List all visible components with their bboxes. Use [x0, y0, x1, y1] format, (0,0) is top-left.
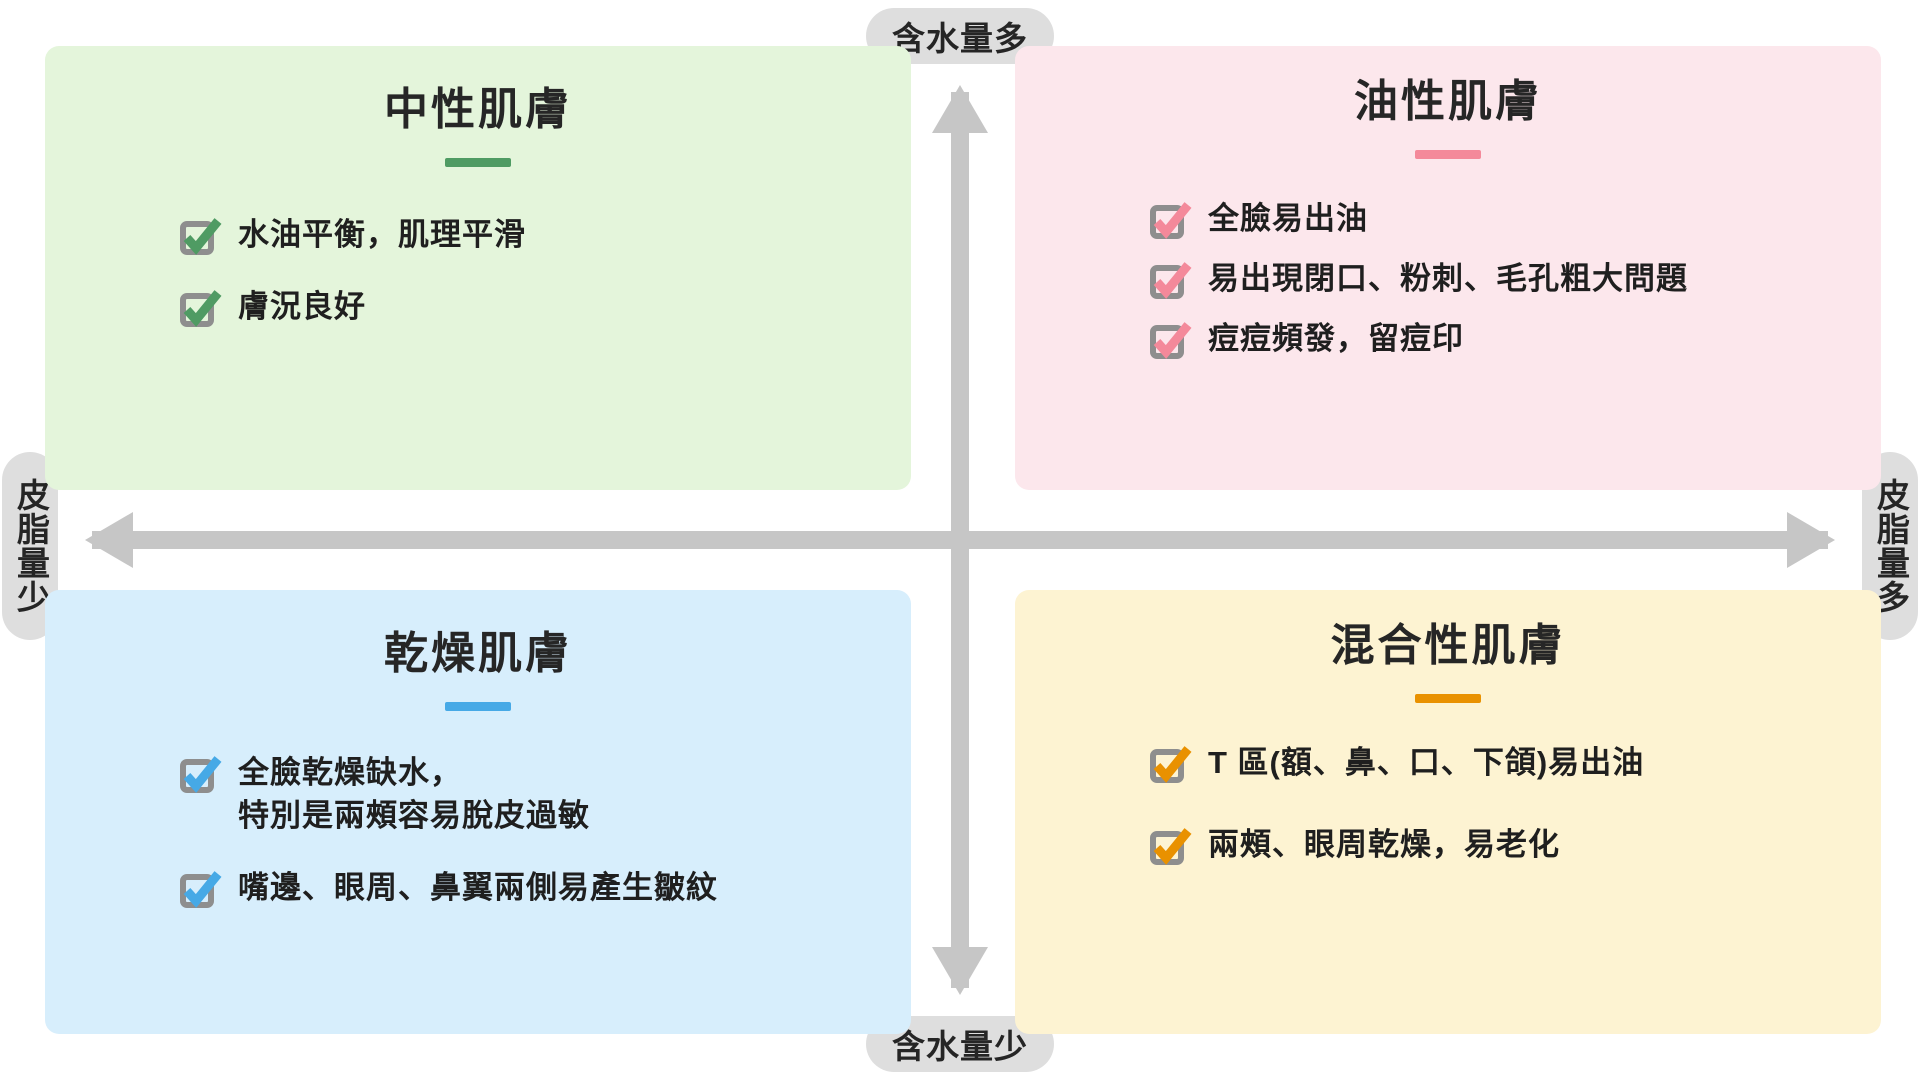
list-item-label: T 區(額、鼻、口、下頜)易出油: [1208, 741, 1644, 785]
list-item-label: 兩頰、眼周乾燥，易老化: [1208, 823, 1560, 867]
quadrant-combination: 混合性肌膚 T 區(額、鼻、口、下頜)易出油 兩頰、眼周乾燥，易老化: [1015, 590, 1881, 1034]
checkbox-checked-icon: [1148, 201, 1190, 243]
quadrant-oily-list: 全臉易出油 易出現閉口、粉刺、毛孔粗大問題 痘痘頻發，留痘印: [1148, 197, 1881, 363]
quadrant-combination-accent-rule: [1415, 694, 1481, 703]
list-item-label: 膚況良好: [238, 285, 366, 329]
quadrant-combination-title: 混合性肌膚: [1015, 590, 1881, 668]
quadrant-neutral-list: 水油平衡，肌理平滑 膚況良好: [178, 213, 911, 331]
list-item: T 區(額、鼻、口、下頜)易出油: [1148, 741, 1881, 787]
quadrant-neutral-title: 中性肌膚: [45, 46, 911, 132]
checkbox-checked-icon: [178, 755, 220, 797]
checkbox-checked-icon: [178, 217, 220, 259]
quadrant-dry: 乾燥肌膚 全臉乾燥缺水， 特別是兩頰容易脫皮過敏 嘴邊、眼周、鼻翼兩側易產生皺紋: [45, 590, 911, 1034]
list-item: 全臉易出油: [1148, 197, 1881, 243]
quadrant-oily-title: 油性肌膚: [1015, 46, 1881, 124]
list-item-label: 全臉乾燥缺水， 特別是兩頰容易脫皮過敏: [238, 751, 590, 838]
quadrant-neutral-accent-rule: [445, 158, 511, 167]
checkbox-checked-icon: [178, 870, 220, 912]
list-item: 易出現閉口、粉刺、毛孔粗大問題: [1148, 257, 1881, 303]
checkbox-checked-icon: [178, 289, 220, 331]
quadrant-dry-title: 乾燥肌膚: [45, 590, 911, 676]
arrow-left-icon: [85, 512, 133, 568]
quadrant-neutral: 中性肌膚 水油平衡，肌理平滑 膚況良好: [45, 46, 911, 490]
checkbox-checked-icon: [1148, 261, 1190, 303]
list-item: 痘痘頻發，留痘印: [1148, 317, 1881, 363]
list-item-label: 嘴邊、眼周、鼻翼兩側易產生皺紋: [238, 866, 718, 910]
skin-type-quadrant-chart: 含水量多 含水量少 皮脂量少 皮脂量多 中性肌膚 水油平衡，肌理平滑 膚況良好: [0, 0, 1920, 1080]
arrow-down-icon: [932, 947, 988, 995]
list-item-label: 痘痘頻發，留痘印: [1208, 317, 1464, 361]
list-item: 水油平衡，肌理平滑: [178, 213, 911, 259]
list-item-label: 易出現閉口、粉刺、毛孔粗大問題: [1208, 257, 1688, 301]
checkbox-checked-icon: [1148, 827, 1190, 869]
list-item: 全臉乾燥缺水， 特別是兩頰容易脫皮過敏: [178, 751, 911, 838]
list-item: 嘴邊、眼周、鼻翼兩側易產生皺紋: [178, 866, 911, 912]
horizontal-axis-line: [92, 531, 1828, 549]
arrow-up-icon: [932, 85, 988, 133]
list-item: 兩頰、眼周乾燥，易老化: [1148, 823, 1881, 869]
quadrant-dry-accent-rule: [445, 702, 511, 711]
checkbox-checked-icon: [1148, 745, 1190, 787]
list-item-label: 全臉易出油: [1208, 197, 1368, 241]
list-item-label: 水油平衡，肌理平滑: [238, 213, 526, 257]
quadrant-oily-accent-rule: [1415, 150, 1481, 159]
quadrant-oily: 油性肌膚 全臉易出油 易出現閉口、粉刺、毛孔粗大問題: [1015, 46, 1881, 490]
checkbox-checked-icon: [1148, 321, 1190, 363]
quadrant-dry-list: 全臉乾燥缺水， 特別是兩頰容易脫皮過敏 嘴邊、眼周、鼻翼兩側易產生皺紋: [178, 751, 911, 912]
arrow-right-icon: [1787, 512, 1835, 568]
list-item: 膚況良好: [178, 285, 911, 331]
quadrant-combination-list: T 區(額、鼻、口、下頜)易出油 兩頰、眼周乾燥，易老化: [1148, 741, 1881, 869]
